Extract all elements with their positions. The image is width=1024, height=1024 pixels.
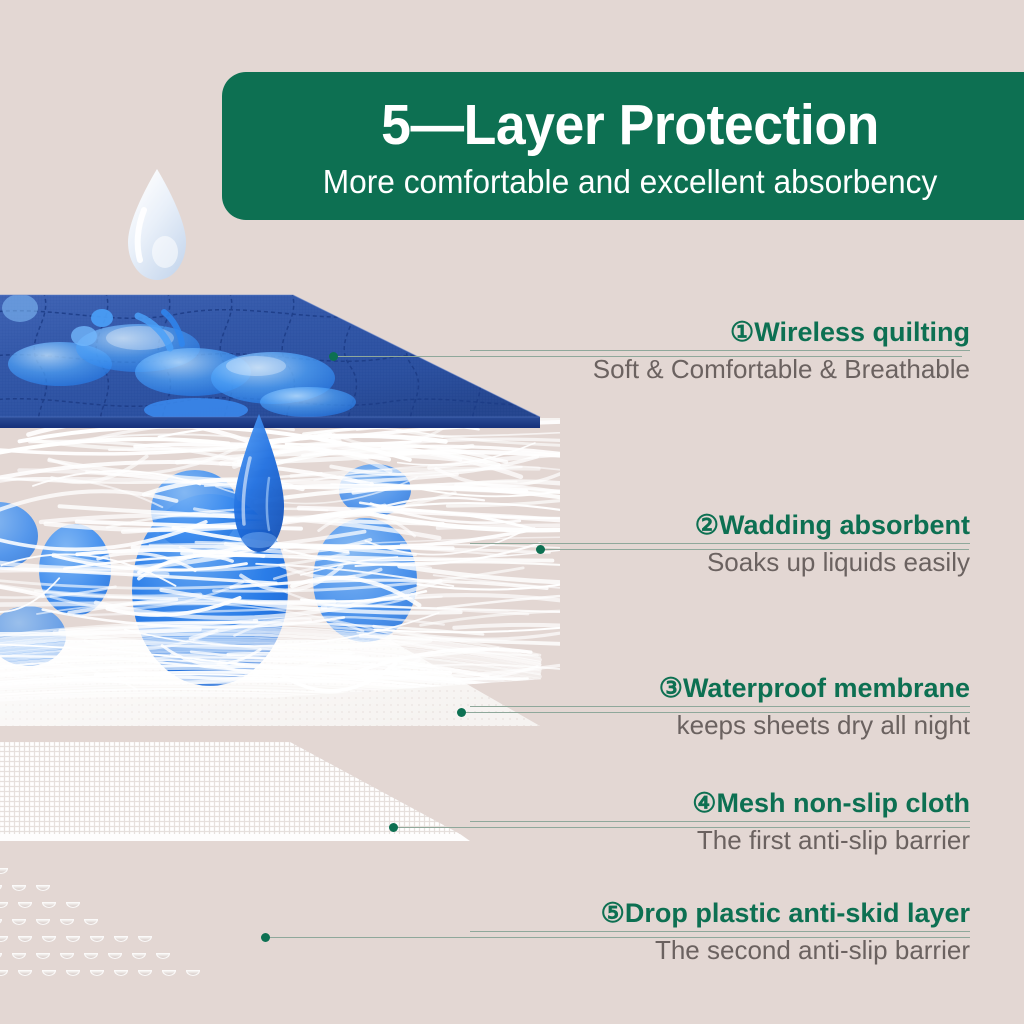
callout-2-description: Soaks up liquids easily <box>470 548 970 577</box>
callout-3-rule <box>470 706 970 707</box>
callout-5: ⑤Drop plastic anti-skid layer The second… <box>470 899 970 965</box>
callout-2-title-text: Wadding absorbent <box>719 510 970 540</box>
callout-5-rule <box>470 931 970 932</box>
infographic-canvas: ①Wireless quilting Soft & Comfortable & … <box>0 0 1024 1024</box>
water-drop-icon <box>226 412 292 562</box>
page-subtitle: More comfortable and excellent absorbenc… <box>238 164 1021 200</box>
callout-1-title: ①Wireless quilting <box>470 318 970 347</box>
callout-dot-1 <box>329 352 338 361</box>
callout-4-marker: ④ <box>692 788 716 818</box>
callout-1: ①Wireless quilting Soft & Comfortable & … <box>470 318 970 384</box>
callout-3-title: ③Waterproof membrane <box>470 674 970 703</box>
layer-5-anti-skid-illustration <box>0 862 460 992</box>
callout-2: ②Wadding absorbent Soaks up liquids easi… <box>470 511 970 577</box>
callout-5-title-text: Drop plastic anti-skid layer <box>625 898 970 928</box>
callout-3-description: keeps sheets dry all night <box>470 711 970 740</box>
callout-1-marker: ① <box>730 317 754 347</box>
callout-2-marker: ② <box>695 510 719 540</box>
callout-5-description: The second anti-slip barrier <box>470 936 970 965</box>
callout-5-title: ⑤Drop plastic anti-skid layer <box>470 899 970 928</box>
callout-4-title-text: Mesh non-slip cloth <box>717 788 971 818</box>
callout-dot-3 <box>457 708 466 717</box>
callout-3-marker: ③ <box>659 673 683 703</box>
callout-1-title-text: Wireless quilting <box>754 317 970 347</box>
callout-4-rule <box>470 821 970 822</box>
callout-5-marker: ⑤ <box>601 898 625 928</box>
callout-3: ③Waterproof membrane keeps sheets dry al… <box>470 674 970 740</box>
callout-2-rule <box>470 543 970 544</box>
callout-1-description: Soft & Comfortable & Breathable <box>470 355 970 384</box>
water-drop-icon <box>120 166 194 284</box>
callout-dot-2 <box>536 545 545 554</box>
callout-3-title-text: Waterproof membrane <box>683 673 970 703</box>
callout-4-title: ④Mesh non-slip cloth <box>470 789 970 818</box>
callout-dot-5 <box>261 933 270 942</box>
callout-1-rule <box>470 350 970 351</box>
page-title: 5—Layer Protection <box>246 96 1013 154</box>
header-banner: 5—Layer Protection More comfortable and … <box>222 72 1024 220</box>
callout-4-description: The first anti-slip barrier <box>470 826 970 855</box>
callout-4: ④Mesh non-slip cloth The first anti-slip… <box>470 789 970 855</box>
callout-2-title: ②Wadding absorbent <box>470 511 970 540</box>
callout-dot-4 <box>389 823 398 832</box>
